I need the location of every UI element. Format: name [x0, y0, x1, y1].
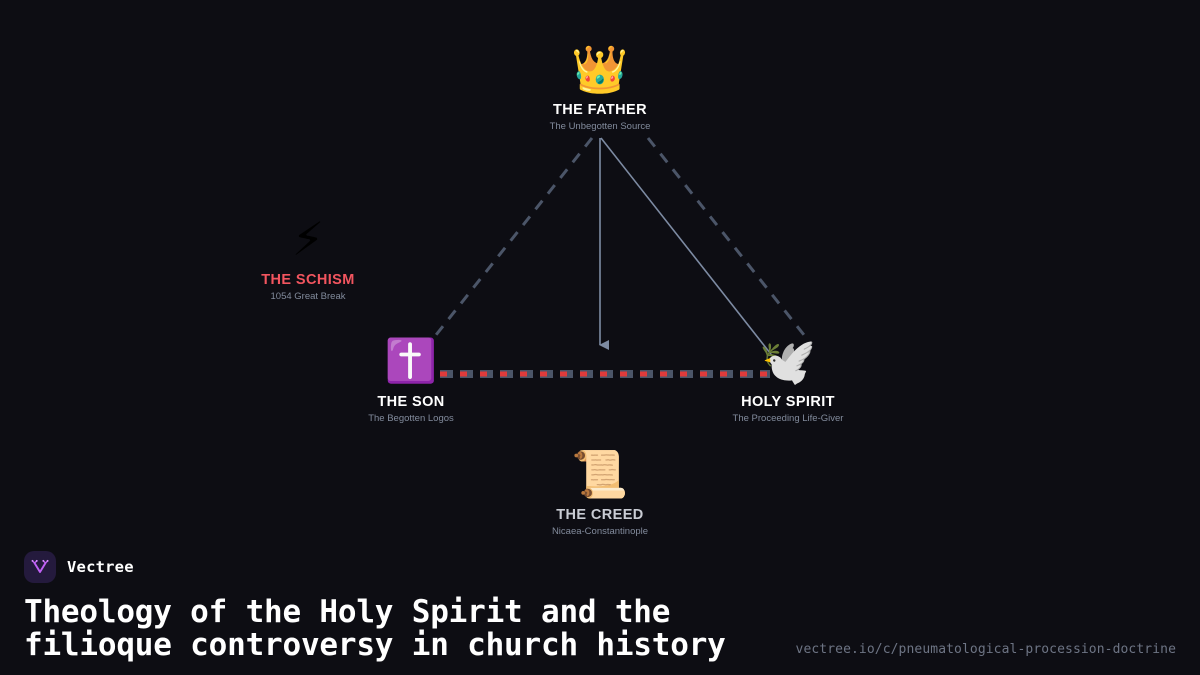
- node-father-title: THE FATHER: [490, 102, 710, 118]
- node-father[interactable]: 👑 THE FATHER The Unbegotten Source: [490, 42, 710, 132]
- scroll-icon: 📜: [490, 447, 710, 503]
- edge-father-to-son: [432, 138, 592, 340]
- node-son-subtitle: The Begotten Logos: [301, 413, 521, 424]
- footer: Vectree Theology of the Holy Spirit and …: [0, 551, 1200, 675]
- edge-father-to-spirit-dashed: [648, 138, 808, 340]
- node-holy-spirit-subtitle: The Proceeding Life-Giver: [678, 413, 898, 424]
- node-schism-title: THE SCHISM: [198, 272, 418, 288]
- node-schism-subtitle: 1054 Great Break: [198, 291, 418, 302]
- node-father-subtitle: The Unbegotten Source: [490, 121, 710, 132]
- dove-icon: 🕊️: [678, 334, 898, 390]
- node-holy-spirit[interactable]: 🕊️ HOLY SPIRIT The Proceeding Life-Giver: [678, 334, 898, 424]
- page-title: Theology of the Holy Spirit and the fili…: [24, 596, 814, 661]
- node-schism[interactable]: ⚡ THE SCHISM 1054 Great Break: [198, 212, 418, 302]
- node-son-title: THE SON: [301, 394, 521, 410]
- node-creed-subtitle: Nicaea-Constantinople: [490, 526, 710, 537]
- brand-name: Vectree: [67, 558, 134, 576]
- crown-icon: 👑: [490, 42, 710, 98]
- vectree-logo-icon: [24, 551, 56, 583]
- node-son[interactable]: ✝️ THE SON The Begotten Logos: [301, 334, 521, 424]
- node-creed-title: THE CREED: [490, 507, 710, 523]
- latin-cross-icon: ✝️: [301, 334, 521, 390]
- node-creed[interactable]: 📜 THE CREED Nicaea-Constantinople: [490, 447, 710, 537]
- diagram-canvas: 👑 THE FATHER The Unbegotten Source ⚡ THE…: [0, 0, 1200, 675]
- node-holy-spirit-title: HOLY SPIRIT: [678, 394, 898, 410]
- brand[interactable]: Vectree: [24, 551, 1176, 583]
- lightning-bolt-icon: ⚡: [198, 212, 418, 268]
- source-url: vectree.io/c/pneumatological-procession-…: [796, 642, 1176, 657]
